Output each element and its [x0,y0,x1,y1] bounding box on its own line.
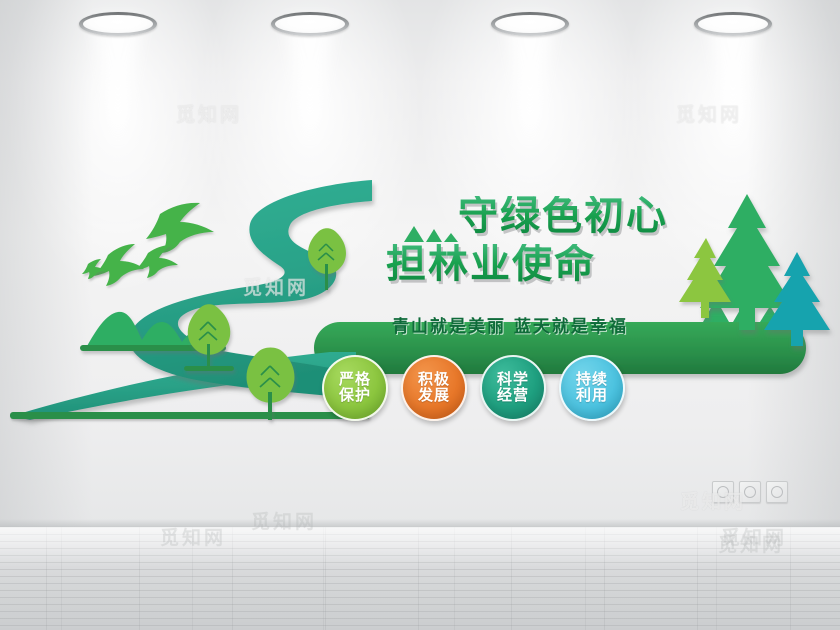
floor [0,527,840,630]
leaf-tree-lower [247,348,295,421]
floor-planks-b [0,527,840,630]
badge-strict-protection[interactable]: 严格 保护 [322,355,388,421]
headline-line-2: 担林业使命 [386,244,716,284]
badge-sustainable-use[interactable]: 持续 利用 [559,355,625,421]
headline-line-1: 守绿色初心 [458,196,716,236]
badge-group: 严格 保护 积极 发展 科学 经营 持续 利用 [322,355,625,421]
ground-line-left [10,412,370,419]
badge-active-development[interactable]: 积极 发展 [401,355,467,421]
badge-line-2: 经营 [497,388,529,404]
badge-scientific-management[interactable]: 科学 经营 [480,355,546,421]
headline-block: 守绿色初心 担林业使命 [386,196,716,284]
badge-line-2: 保护 [339,388,371,404]
bird-icon-medium [137,245,178,278]
badge-line-2: 发展 [418,388,450,404]
subtitle-text: 青山就是美丽 蓝天就是幸福 [392,312,628,337]
bird-icon-large [146,203,214,253]
wall-mockup-scene: 守绿色初心 担林业使命 青山就是美丽 蓝天就是幸福 严格 保护 积极 发展 科学… [0,0,840,630]
badge-line-2: 利用 [576,388,608,404]
bird-icon-small [94,244,144,286]
